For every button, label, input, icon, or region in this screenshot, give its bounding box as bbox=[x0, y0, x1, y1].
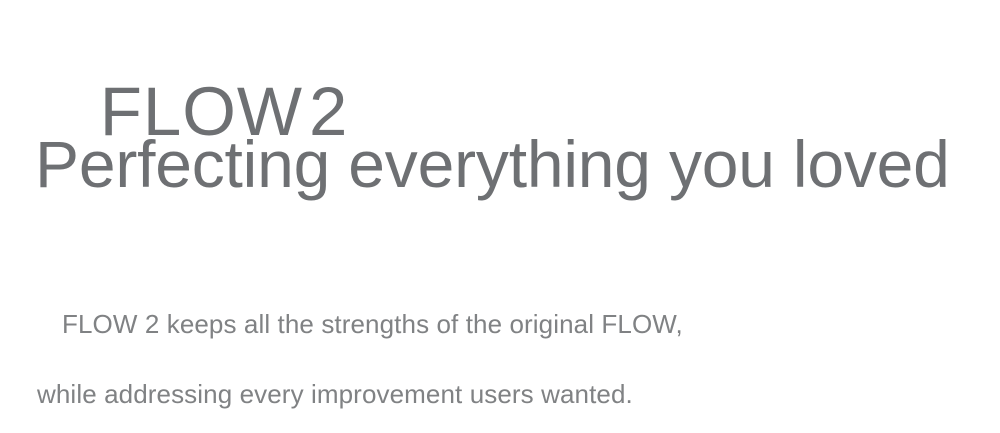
body-copy-line: FLOW 2 keeps all the strengths of the or… bbox=[0, 289, 1000, 359]
body-copy: FLOW 2 keeps all the strengths of the or… bbox=[0, 289, 1000, 429]
headline: Perfecting everything you loved bbox=[35, 131, 950, 197]
presentation-slide: FLOW2 Perfecting everything you loved FL… bbox=[0, 0, 1000, 433]
body-copy-line: while addressing every improvement users… bbox=[0, 359, 1000, 429]
